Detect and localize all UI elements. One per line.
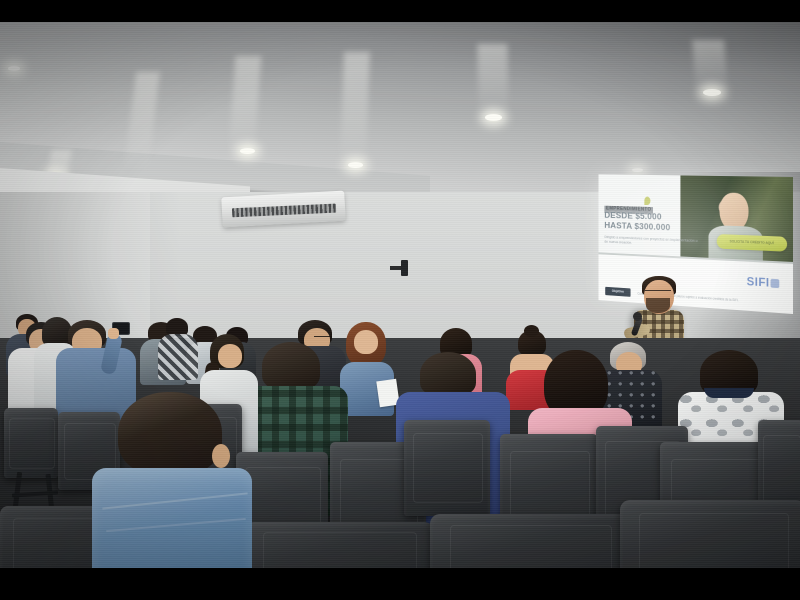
person-head (218, 344, 242, 368)
hair-bun (524, 325, 539, 337)
list-item (340, 322, 394, 414)
person-hair (420, 352, 476, 396)
downlight-icon (240, 148, 255, 154)
slide-logo: EMPRENDIMIENTO (604, 198, 652, 209)
screenshot-root: EMPRENDIMIENTO DESDE $5.000 HASTA $300.0… (0, 0, 800, 600)
slide-headline-line2: HASTA $300.000 (604, 221, 670, 233)
list-item (158, 318, 198, 378)
chair[interactable] (430, 514, 630, 568)
person-hair (262, 342, 320, 390)
photograph: EMPRENDIMIENTO DESDE $5.000 HASTA $300.0… (0, 22, 800, 568)
chair[interactable] (620, 500, 800, 568)
person-torso (158, 334, 198, 380)
person-ear (212, 444, 230, 468)
bracket-box (401, 260, 408, 276)
person-head (354, 330, 378, 354)
chair[interactable] (404, 420, 490, 516)
chair[interactable] (4, 408, 58, 478)
presenter-beard (646, 298, 670, 313)
microphone-head (633, 312, 642, 321)
person-torso (92, 468, 252, 568)
eyeglasses-icon (645, 290, 671, 296)
letterbox-top (0, 0, 800, 22)
wall-speaker-bracket-icon (390, 260, 410, 276)
slide-cta-label: SOLICITA TU CRÉDITO AQUÍ (730, 240, 774, 246)
slide-upper-panel: EMPRENDIMIENTO DESDE $5.000 HASTA $300.0… (599, 174, 793, 262)
slide-brand-text: SIFI (747, 275, 770, 290)
person-hand (108, 328, 119, 339)
downlight-icon (348, 162, 363, 168)
downlight-icon (632, 168, 643, 172)
slide-logo-mark (644, 197, 650, 206)
chair[interactable] (244, 522, 434, 568)
downlight-icon (8, 66, 20, 71)
person-hair (118, 392, 222, 476)
slide-brand-mark (771, 279, 780, 288)
list-item (92, 392, 252, 568)
downlight-icon (485, 114, 502, 121)
polo-collar (704, 388, 754, 398)
slide-headline: DESDE $5.000 HASTA $300.000 (604, 211, 670, 233)
letterbox-bottom (0, 568, 800, 600)
downlight-icon (703, 89, 721, 96)
slide-brand-logo: SIFI (747, 275, 780, 291)
